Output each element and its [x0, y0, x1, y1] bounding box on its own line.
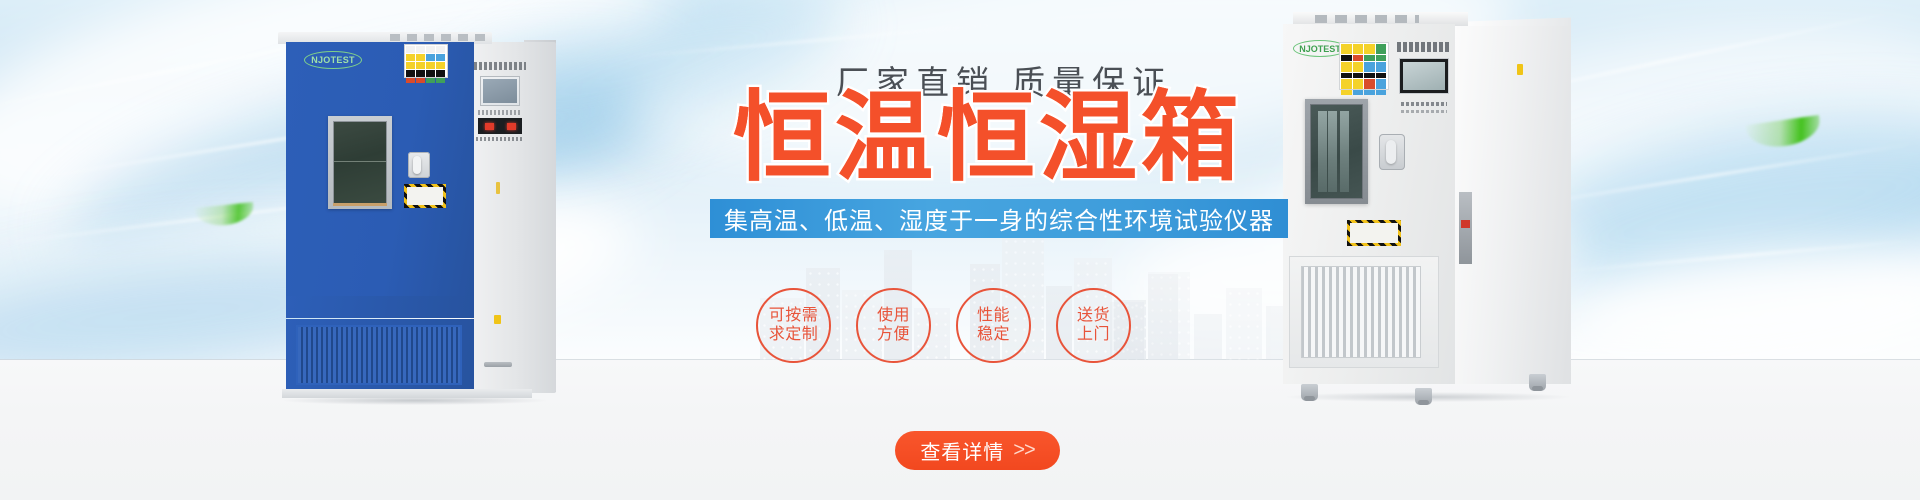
brand-logo: NJOTEST: [304, 51, 362, 69]
side-yellow-marker: [496, 182, 500, 194]
viewing-window: [328, 116, 392, 209]
door-handle: [408, 152, 430, 178]
feature-badge-line2: 方便: [877, 326, 910, 345]
feature-badge[interactable]: 可按需 求定制: [756, 288, 831, 363]
leveling-foot: [1415, 388, 1432, 405]
cloud-streak: [621, 23, 1000, 58]
panel-contact-text: [1401, 110, 1447, 113]
panel-text-strip: [478, 110, 522, 115]
window-bottom-trim: [333, 203, 387, 206]
view-details-button[interactable]: 查看详情 >>: [895, 431, 1060, 470]
vent-grille: [1301, 266, 1421, 358]
feature-badge-line1: 可按需: [769, 307, 819, 326]
product-image-left: NJOTEST: [278, 32, 556, 398]
vent-grille: [296, 325, 462, 385]
feature-badge[interactable]: 使用 方便: [856, 288, 931, 363]
feature-badge-line2: 求定制: [769, 326, 819, 345]
control-panel: [474, 62, 526, 162]
side-yellow-marker: [1517, 64, 1523, 75]
side-control-strip: [1459, 192, 1472, 264]
chamber-mid-band: [286, 296, 474, 318]
product-image-right: NJOTEST: [1283, 12, 1573, 400]
control-panel: [1395, 40, 1453, 150]
control-panel-title: [1397, 42, 1451, 52]
touchscreen-display: [1399, 58, 1449, 94]
chamber-lower-section: [1289, 256, 1439, 368]
feature-badge-line1: 送货: [1077, 307, 1110, 326]
view-details-label: 查看详情: [920, 436, 1004, 465]
window-glass: [1310, 104, 1363, 199]
feature-badge-line2: 上门: [1077, 326, 1110, 345]
viewing-window: [1305, 99, 1368, 204]
warning-label-grid: [1339, 42, 1389, 90]
banner-subtitle-bar: 集高温、低温、湿度于一身的综合性环境试验仪器: [710, 199, 1288, 238]
warning-label-grid: [404, 44, 448, 78]
leveling-foot: [1301, 384, 1318, 401]
hazard-label: [404, 184, 446, 208]
leveling-foot: [1529, 374, 1546, 391]
window-glass: [333, 121, 387, 204]
promo-banner: NJOTEST: [0, 0, 1920, 500]
cloud-streak: [1561, 239, 1920, 272]
chamber-front-door: NJOTEST: [286, 42, 474, 298]
brand-logo-text: NJOTEST: [1299, 44, 1341, 54]
top-vent-slots: [1315, 15, 1419, 23]
control-panel-title: [474, 62, 526, 70]
hazard-label: [1347, 220, 1401, 246]
panel-footer-text: [476, 137, 524, 141]
brand-logo-text: NJOTEST: [311, 55, 355, 65]
feature-badge-line1: 使用: [877, 307, 910, 326]
top-vent-slots: [390, 34, 486, 41]
feature-badge-line2: 稳定: [977, 326, 1010, 345]
chamber-base: [282, 389, 532, 398]
feature-badge-list: 可按需 求定制 使用 方便 性能 稳定 送货 上门: [756, 288, 1131, 363]
side-handle: [484, 362, 512, 367]
feature-badge[interactable]: 送货 上门: [1056, 288, 1131, 363]
led-indicator-row: [478, 118, 522, 134]
door-handle: [1379, 134, 1405, 170]
page-title: 恒温恒湿箱: [733, 88, 1243, 186]
feature-badge[interactable]: 性能 稳定: [956, 288, 1031, 363]
chevron-right-icon: >>: [1013, 439, 1034, 462]
chamber-front-door: NJOTEST: [1283, 24, 1455, 384]
banner-subtitle: 集高温、低温、湿度于一身的综合性环境试验仪器: [724, 201, 1274, 236]
panel-company-text: [1401, 102, 1447, 106]
chamber-lower-section: [286, 319, 474, 391]
feature-badge-line1: 性能: [977, 307, 1010, 326]
touchscreen-display: [480, 76, 520, 106]
side-yellow-marker: [494, 315, 501, 324]
